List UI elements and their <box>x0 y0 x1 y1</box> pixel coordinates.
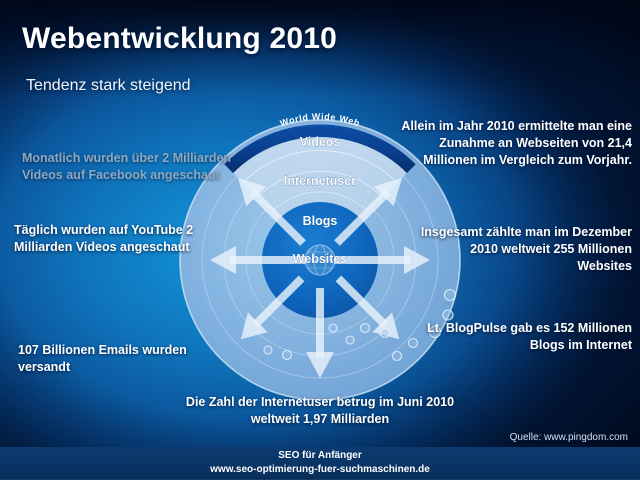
bubble <box>361 324 370 333</box>
bubble <box>264 346 272 354</box>
fact-total-websites: Insgesamt zählte man im Dezember 2010 we… <box>417 224 632 275</box>
bubble <box>393 352 402 361</box>
fact-facebook-videos: Monatlich wurden über 2 Milliarden Video… <box>22 150 237 184</box>
fact-youtube-videos: Täglich wurden auf YouTube 2 Milliarden … <box>14 222 204 256</box>
ring-label-videos: Videos <box>300 135 341 149</box>
bubble <box>409 339 418 348</box>
fact-emails-sent: 107 Billionen Emails wurden versandt <box>18 342 218 376</box>
ring-label-websites: Websites <box>293 252 348 266</box>
ring-label-blogs: Blogs <box>303 214 338 228</box>
footer-credit-line1: SEO für Anfänger <box>0 449 640 463</box>
page-subtitle: Tendenz stark steigend <box>26 77 191 95</box>
bubble <box>283 351 292 360</box>
footer-credit: SEO für Anfänger www.seo-optimierung-fue… <box>0 449 640 476</box>
source-credit: Quelle: www.pingdom.com <box>510 432 628 443</box>
fact-internetuser-count: Die Zahl der Internetuser betrug im Juni… <box>160 394 480 428</box>
infographic-canvas: World Wide Web <box>0 0 640 480</box>
fact-websites-increase: Allein im Jahr 2010 ermittelte man eine … <box>392 118 632 169</box>
ring-label-internetuser: Internetuser <box>284 174 356 188</box>
fact-total-blogs: Lt. BlogPulse gab es 152 Millionen Blogs… <box>427 320 632 354</box>
bubble <box>381 329 390 338</box>
footer-credit-line2[interactable]: www.seo-optimierung-fuer-suchmaschinen.d… <box>0 463 640 477</box>
bubble <box>445 290 456 301</box>
page-title: Webentwicklung 2010 <box>22 22 337 56</box>
bubble <box>346 336 354 344</box>
bubble <box>443 310 453 320</box>
bubble <box>329 324 337 332</box>
